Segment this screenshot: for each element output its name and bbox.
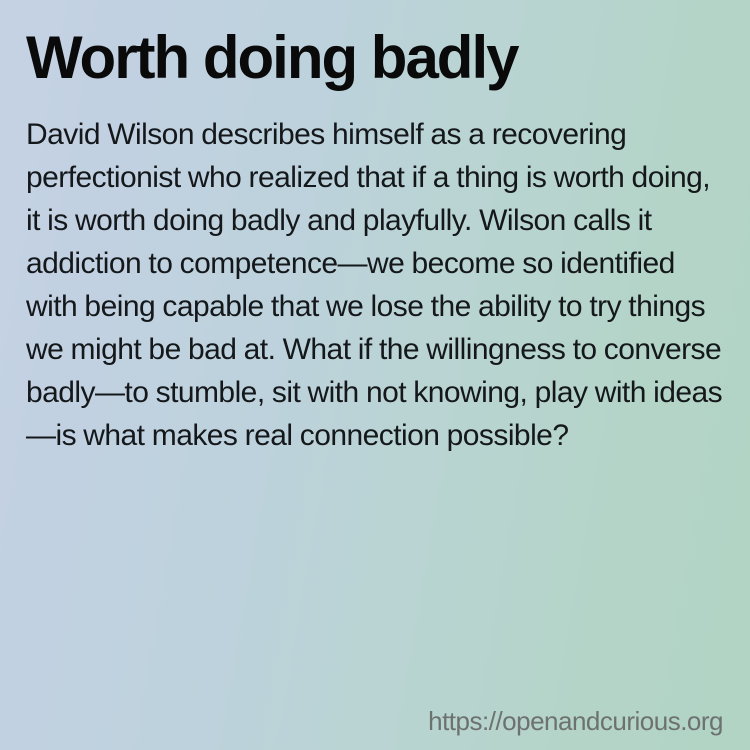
page-title: Worth doing badly — [26, 26, 724, 91]
quote-body-text: David Wilson describes himself as a reco… — [26, 91, 724, 457]
quote-content: Worth doing badly David Wilson describes… — [26, 26, 724, 457]
footer-site-url: https://openandcurious.org — [428, 706, 723, 737]
quote-card: Worth doing badly David Wilson describes… — [0, 0, 750, 750]
